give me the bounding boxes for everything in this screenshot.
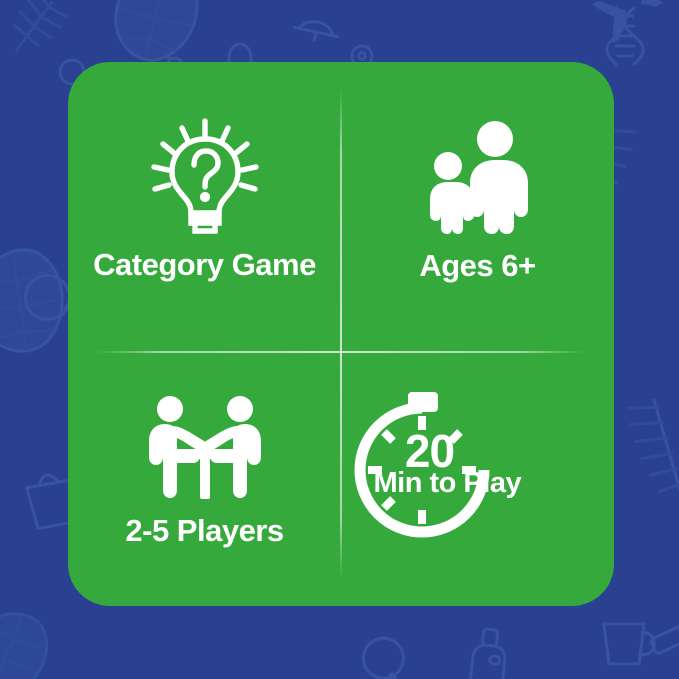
infographic-badge: Category Game Ages 6+ (0, 0, 679, 679)
feature-play-time: 20 Min to Play (341, 334, 614, 606)
adult-and-child-icon-wrap (422, 116, 534, 234)
feature-players: 2-5 Players (68, 334, 341, 606)
stopwatch-holder: 20 Min to Play (342, 380, 614, 560)
lightbulb-question-icon-wrap (149, 117, 261, 235)
feature-category-game: Category Game (68, 62, 341, 334)
lightbulb-question-icon (149, 117, 261, 235)
feature-card: Category Game Ages 6+ (68, 62, 614, 606)
two-players-at-table-icon-wrap (143, 395, 267, 499)
adult-and-child-icon (422, 116, 534, 234)
feature-label-ages: Ages 6+ (419, 250, 535, 281)
two-players-at-table-icon (143, 395, 267, 499)
play-time-unit: Min to Play (374, 469, 604, 498)
feature-ages: Ages 6+ (341, 62, 614, 334)
feature-label-players: 2-5 Players (125, 515, 283, 546)
feature-label-category-game: Category Game (93, 249, 316, 280)
